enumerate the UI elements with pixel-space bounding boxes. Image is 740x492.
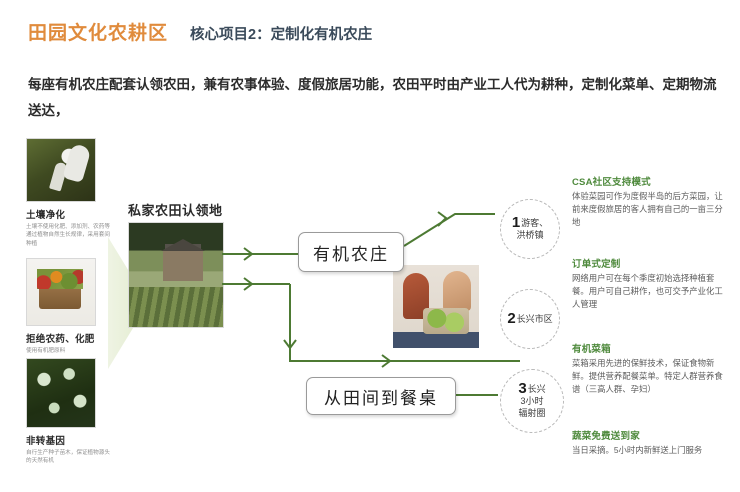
project-title: 核心项目2：定制化有机农庄 xyxy=(190,23,372,44)
table-art xyxy=(393,332,479,348)
feature-title: 土壤净化 xyxy=(26,207,112,221)
info-block-csa: CSA社区支持模式 体验菜园可作为度假半岛的后方菜园，让前来度假旅居的客人拥有自… xyxy=(572,174,728,229)
zone-title: 田园文化农耕区 xyxy=(28,18,168,45)
info-title: 有机菜箱 xyxy=(572,341,728,355)
box-organic-farm[interactable]: 有机农庄 xyxy=(298,232,404,272)
circle-number: 2 xyxy=(507,310,515,327)
no-pesticide-photo xyxy=(26,258,96,326)
feature-description: 土壤不使用化肥、添加剂、农药等 通过植物自然生长规律，采用套间种植 xyxy=(26,223,110,248)
page-header: 田园文化农耕区 核心项目2：定制化有机农庄 xyxy=(28,18,372,45)
circle-label: 洪桥镇 xyxy=(516,229,543,241)
circle-label: 长兴 xyxy=(528,384,546,394)
private-farm-plot-photo xyxy=(128,222,224,328)
circle-3-line-1: 3长兴 xyxy=(518,383,545,395)
info-body: 网络用户可在每个季度初始选择种植套餐。用户可自己耕作，也可交予产业化工人管理 xyxy=(572,272,728,311)
circle-marker-1: 1游客、 洪桥镇 xyxy=(500,199,560,259)
info-title: 订单式定制 xyxy=(572,256,728,270)
info-body: 菜箱采用先进的保鲜技术，保证食物新鲜。提供营养配餐菜单。特定人群营养食谱（三高人… xyxy=(572,357,728,396)
family-dining-photo xyxy=(393,265,479,348)
vegetables-art xyxy=(423,308,469,334)
feature-item-non-gmo: 非转基因 自行生产种子苗木，保证植物源头的天然有机 xyxy=(26,358,112,466)
feature-item-no-pesticide: 拒绝农药、化肥 使用有机肥原料 xyxy=(26,258,112,355)
info-block-custom-order: 订单式定制 网络用户可在每个季度初始选择种植套餐。用户可自己耕作，也可交予产业化… xyxy=(572,256,728,311)
feature-title: 拒绝农药、化肥 xyxy=(26,331,112,345)
intro-paragraph: 每座有机农庄配套认领农田，兼有农事体验、度假旅居功能，农田平时由产业工人代为耕种… xyxy=(28,72,718,124)
cabin-art xyxy=(163,251,203,281)
info-title: 蔬菜免费送到家 xyxy=(572,428,728,442)
crop-rows-art xyxy=(129,287,223,327)
info-title: CSA社区支持模式 xyxy=(572,174,728,188)
info-body: 当日采摘。5小时内新鲜送上门服务 xyxy=(572,444,728,457)
circle-2-line-1: 2长兴市区 xyxy=(507,313,552,325)
feature-title: 非转基因 xyxy=(26,433,112,447)
feature-item-soil: 土壤净化 土壤不使用化肥、添加剂、农药等 通过植物自然生长规律，采用套间种植 xyxy=(26,138,112,248)
circle-marker-2: 2长兴市区 xyxy=(500,289,560,349)
circle-label: 辐射圈 xyxy=(518,407,545,419)
feature-description: 自行生产种子苗木，保证植物源头的天然有机 xyxy=(26,449,110,466)
feature-description: 使用有机肥原料 xyxy=(26,347,110,355)
info-block-organic-box: 有机菜箱 菜箱采用先进的保鲜技术，保证食物新鲜。提供营养配餐菜单。特定人群营养食… xyxy=(572,341,728,396)
person-art-right xyxy=(443,271,471,311)
info-block-free-delivery: 蔬菜免费送到家 当日采摘。5小时内新鲜送上门服务 xyxy=(572,428,728,457)
plot-label: 私家农田认领地 xyxy=(128,200,223,219)
info-body: 体验菜园可作为度假半岛的后方菜园，让前来度假旅居的客人拥有自己的一亩三分地 xyxy=(572,190,728,229)
soil-purification-photo xyxy=(26,138,96,202)
circle-marker-3: 3长兴 3小时 辐射圈 xyxy=(500,369,564,433)
non-gmo-photo xyxy=(26,358,96,428)
circle-1-line-1: 1游客、 xyxy=(512,217,548,229)
circle-label: 3小时 xyxy=(520,395,543,407)
box-farm-to-table[interactable]: 从田间到餐桌 xyxy=(306,377,456,415)
circle-label: 长兴市区 xyxy=(517,314,553,324)
circle-label: 游客、 xyxy=(521,218,548,228)
